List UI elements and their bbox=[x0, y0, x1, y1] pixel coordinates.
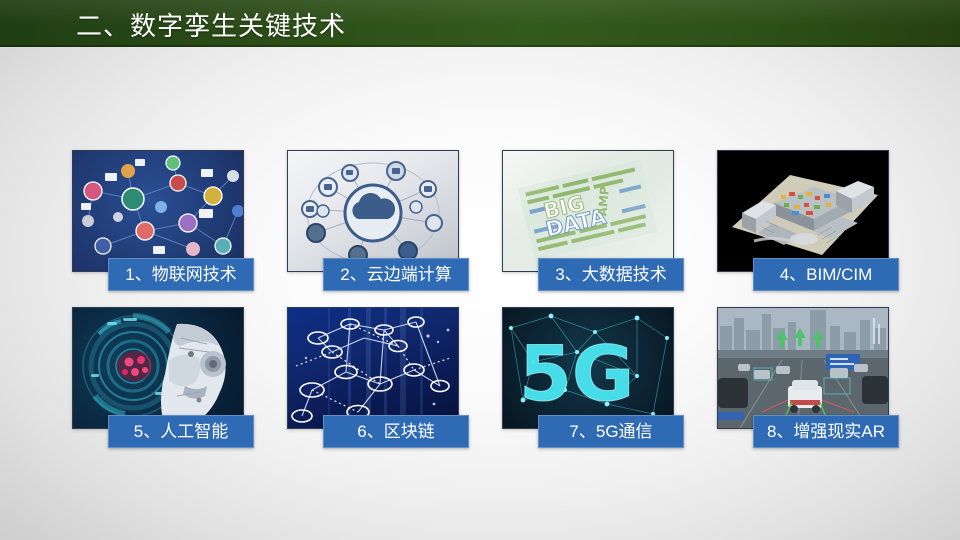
ar-road-graphic bbox=[718, 308, 888, 428]
svg-text:5G: 5G bbox=[519, 329, 634, 418]
iot-network-graphic bbox=[73, 151, 243, 271]
tech-label-5[interactable]: 5、人工智能 bbox=[108, 415, 254, 448]
cloud-edge-computing-image bbox=[287, 150, 459, 272]
blockchain-graphic bbox=[288, 308, 458, 428]
iot-social-network-image bbox=[72, 150, 244, 272]
ai-robot-graphic bbox=[73, 308, 243, 428]
5g-graphic: 5G 5G bbox=[503, 308, 673, 428]
ai-robot-head-image bbox=[72, 307, 244, 429]
tech-label-2[interactable]: 2、云边端计算 bbox=[323, 258, 469, 291]
bim-3d-building-model-image bbox=[717, 150, 889, 272]
blockchain-network-image bbox=[287, 307, 459, 429]
cloud-computing-graphic bbox=[288, 151, 458, 271]
augmented-reality-road-image bbox=[717, 307, 889, 429]
bim-model-graphic bbox=[718, 151, 888, 271]
tech-label-7[interactable]: 7、5G通信 bbox=[538, 415, 684, 448]
tech-label-6[interactable]: 6、区块链 bbox=[323, 415, 469, 448]
5g-communication-image: 5G 5G bbox=[502, 307, 674, 429]
tech-label-1[interactable]: 1、物联网技术 bbox=[108, 258, 254, 291]
tech-label-3[interactable]: 3、大数据技术 bbox=[538, 258, 684, 291]
slide: 二、数字孪生关键技术 bbox=[0, 0, 960, 540]
tech-label-8[interactable]: 8、增强现实AR bbox=[753, 415, 899, 448]
technology-grid: 1、物联网技术 bbox=[0, 0, 960, 540]
big-data-wordcloud-image: BIG DATA AMP bbox=[502, 150, 674, 272]
big-data-graphic: BIG DATA AMP bbox=[503, 151, 673, 271]
tech-label-4[interactable]: 4、BIM/CIM bbox=[753, 258, 899, 291]
